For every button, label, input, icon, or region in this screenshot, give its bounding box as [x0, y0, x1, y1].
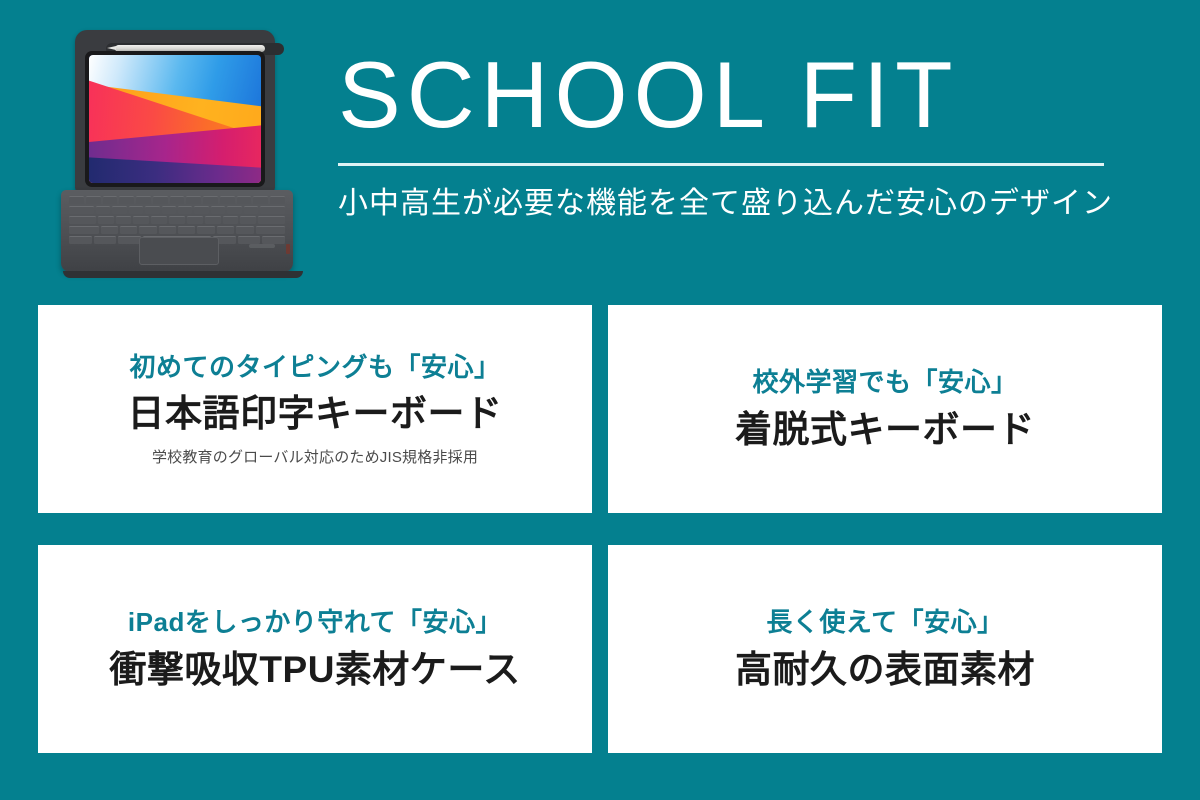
tablet-screen [89, 55, 261, 183]
keyboard-key [159, 226, 176, 234]
trackpad [139, 237, 219, 265]
keyboard-key [256, 226, 286, 234]
title-divider [338, 163, 1104, 166]
keyboard-key [217, 226, 234, 234]
school-fit-banner: SCHOOL FIT 小中高生が必要な機能を全て盛り込んだ安心のデザイン 初めて… [0, 0, 1200, 800]
card-eyebrow: 長く使えて「安心」 [766, 606, 1003, 639]
feature-card-grid: 初めてのタイピングも「安心」 日本語印字キーボード 学校教育のグローバル対応のた… [38, 305, 1162, 755]
card-note: 学校教育のグローバル対応のためJIS規格非採用 [152, 448, 478, 468]
card-eyebrow: 校外学習でも「安心」 [752, 366, 1017, 399]
feature-card-detachable-keyboard: 校外学習でも「安心」 着脱式キーボード [608, 305, 1162, 513]
keyboard-key [258, 216, 285, 224]
keyboard-key [153, 196, 168, 204]
title-block: SCHOOL FIT 小中高生が必要な機能を全て盛り込んだ安心のデザイン [338, 46, 1128, 222]
keyboard-key [203, 196, 218, 204]
keyboard-key [103, 196, 118, 204]
keyboard-key [69, 196, 84, 204]
keyboard-row [69, 206, 285, 214]
keyboard-key [197, 226, 214, 234]
keyboard-key [262, 236, 285, 244]
keyboard-key [119, 196, 134, 204]
tablet-device [85, 51, 265, 187]
keyboard-key [211, 206, 225, 214]
keyboard-key [187, 216, 203, 224]
keyboard-key [240, 216, 256, 224]
keyboard-key [120, 226, 137, 234]
keyboard-key [101, 226, 118, 234]
brand-logo-mark [249, 244, 275, 248]
keyboard-key [238, 236, 261, 244]
keyboard-key [253, 196, 268, 204]
product-image-ipad-keyboard-case [55, 22, 307, 280]
keyboard-key [162, 206, 176, 214]
keyboard-base [61, 190, 293, 272]
keyboard-key [145, 206, 159, 214]
keyboard-key [178, 226, 195, 234]
keyboard-key [112, 206, 126, 214]
keyboard-key [139, 226, 156, 234]
feature-card-durable-surface: 長く使えて「安心」 高耐久の表面素材 [608, 545, 1162, 753]
keyboard-key [86, 196, 101, 204]
card-title: 日本語印字キーボード [128, 392, 503, 436]
keyboard-key [133, 216, 149, 224]
keyboard-key [116, 216, 132, 224]
keyboard-key [236, 226, 253, 234]
keyboard-key [237, 196, 252, 204]
side-port [286, 244, 290, 254]
card-title: 衝撃吸収TPU素材ケース [109, 648, 520, 692]
card-title: 着脱式キーボード [735, 408, 1035, 452]
keyboard-foot [63, 271, 303, 278]
keyboard-key [129, 206, 143, 214]
page-subtitle: 小中高生が必要な機能を全て盛り込んだ安心のデザイン [338, 178, 1128, 222]
keyboard-key [151, 216, 167, 224]
hero-section: SCHOOL FIT 小中高生が必要な機能を全て盛り込んだ安心のデザイン [0, 0, 1200, 295]
keyboard-key [94, 236, 117, 244]
keyboard-key [205, 216, 221, 224]
keyboard-key [169, 216, 185, 224]
keyboard-key [220, 196, 235, 204]
keyboard-key [69, 226, 99, 234]
keyboard-row [69, 226, 285, 234]
keyboard-key [69, 216, 96, 224]
keyboard-key [223, 216, 239, 224]
keyboard-key [186, 196, 201, 204]
keyboard-key [260, 206, 285, 214]
card-eyebrow: iPadをしっかり守れて「安心」 [128, 606, 502, 639]
keyboard-key [98, 216, 114, 224]
keyboard-key [69, 206, 94, 214]
keyboard-key [118, 236, 141, 244]
card-eyebrow: 初めてのタイピングも「安心」 [129, 351, 500, 384]
keyboard-key [170, 196, 185, 204]
keyboard-key [178, 206, 192, 214]
feature-card-tpu-case: iPadをしっかり守れて「安心」 衝撃吸収TPU素材ケース [38, 545, 592, 753]
keyboard-key [227, 206, 241, 214]
feature-card-japanese-keyboard: 初めてのタイピングも「安心」 日本語印字キーボード 学校教育のグローバル対応のた… [38, 305, 592, 513]
keyboard-key [194, 206, 208, 214]
keyboard-key [69, 236, 92, 244]
card-title: 高耐久の表面素材 [735, 648, 1035, 692]
keyboard-key [136, 196, 151, 204]
keyboard-row [69, 216, 285, 224]
page-title: SCHOOL FIT [338, 46, 1128, 145]
keyboard-row [69, 196, 285, 204]
keyboard-key [244, 206, 258, 214]
keyboard-key [270, 196, 285, 204]
keyboard-key [96, 206, 110, 214]
